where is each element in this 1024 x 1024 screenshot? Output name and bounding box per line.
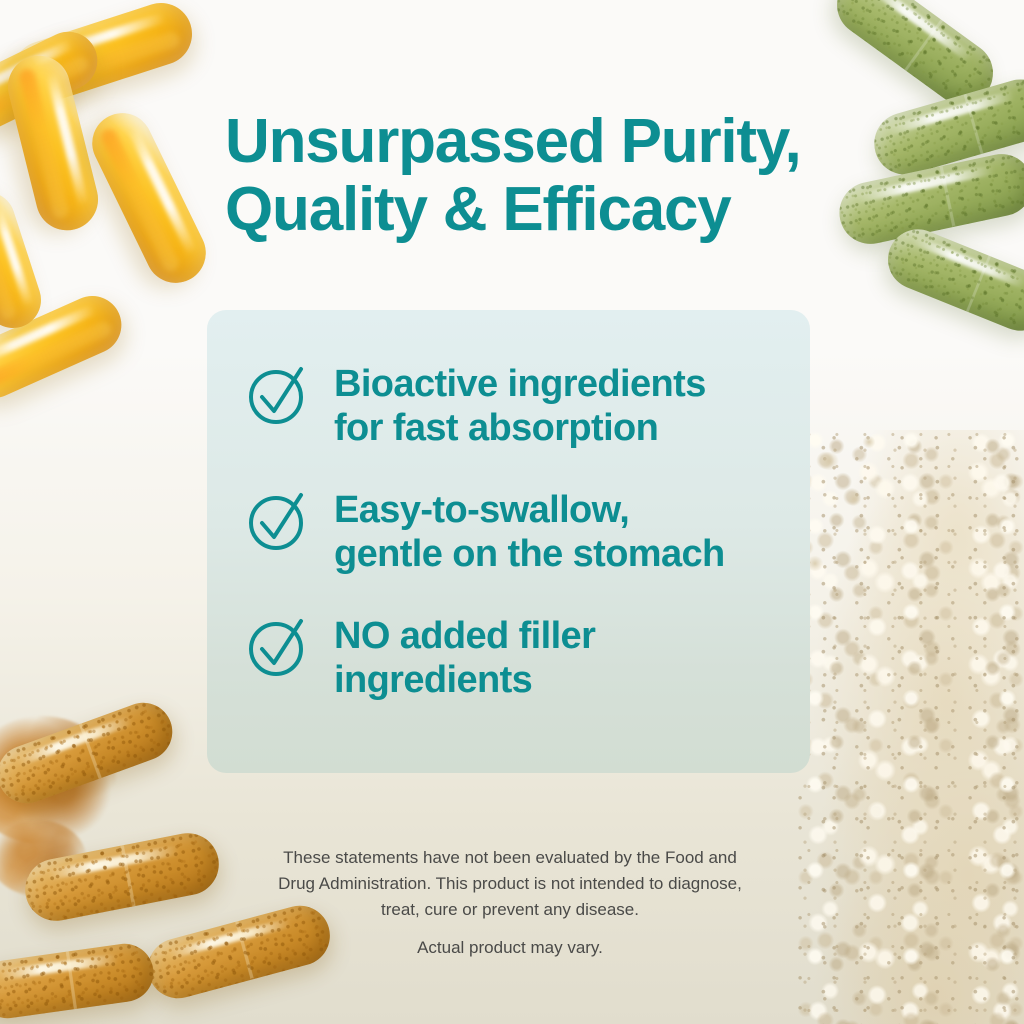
- check-circle-icon: [248, 364, 310, 426]
- check-circle-icon: [248, 616, 310, 678]
- benefits-list: Bioactive ingredients for fast absorptio…: [207, 310, 810, 773]
- page-title: Unsurpassed Purity, Quality & Efficacy: [225, 108, 825, 244]
- list-item: NO added filler ingredients: [248, 614, 810, 702]
- list-item-label: NO added filler ingredients: [334, 614, 595, 702]
- promo-graphic: Unsurpassed Purity, Quality & Efficacy B…: [0, 0, 1024, 1024]
- list-item-label: Easy-to-swallow, gentle on the stomach: [334, 488, 725, 576]
- fda-disclaimer: These statements have not been evaluated…: [200, 845, 820, 923]
- check-circle-icon: [248, 490, 310, 552]
- list-item-label: Bioactive ingredients for fast absorptio…: [334, 362, 706, 450]
- list-item: Bioactive ingredients for fast absorptio…: [248, 362, 810, 450]
- benefits-card: Bioactive ingredients for fast absorptio…: [207, 310, 810, 773]
- list-item: Easy-to-swallow, gentle on the stomach: [248, 488, 810, 576]
- actual-product-note: Actual product may vary.: [200, 935, 820, 961]
